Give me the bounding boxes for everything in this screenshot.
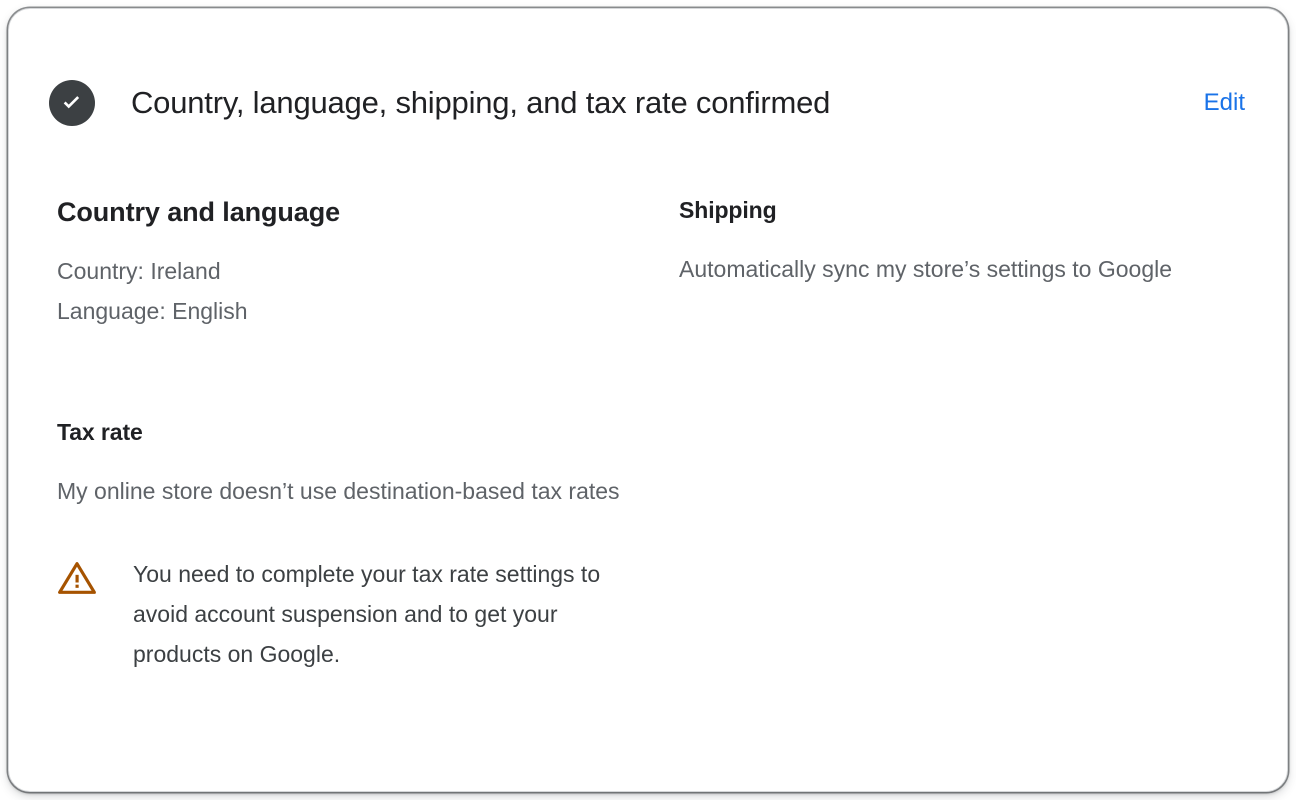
country-language-section: Country and language Country: Ireland La…: [57, 195, 657, 331]
right-column: Shipping Automatically sync my store’s s…: [679, 195, 1239, 290]
tax-rate-heading: Tax rate: [57, 417, 657, 447]
section-spacer: [57, 331, 657, 417]
tax-rate-section: Tax rate My online store doesn’t use des…: [57, 417, 657, 674]
shipping-section: Shipping Automatically sync my store’s s…: [679, 195, 1239, 290]
tax-rate-warning-text: You need to complete your tax rate setti…: [133, 554, 633, 674]
tax-rate-warning: You need to complete your tax rate setti…: [57, 554, 657, 674]
shipping-description: Automatically sync my store’s settings t…: [679, 249, 1239, 290]
language-value: Language: English: [57, 291, 657, 331]
settings-summary-card: Country, language, shipping, and tax rat…: [8, 8, 1288, 792]
edit-link[interactable]: Edit: [1204, 88, 1247, 118]
page-title: Country, language, shipping, and tax rat…: [131, 83, 830, 123]
card-header: Country, language, shipping, and tax rat…: [49, 75, 1247, 131]
card-surface: Country, language, shipping, and tax rat…: [8, 8, 1288, 792]
left-column: Country and language Country: Ireland La…: [57, 195, 657, 674]
check-circle-icon: [49, 80, 95, 126]
shipping-heading: Shipping: [679, 195, 1239, 225]
warning-triangle-icon: [57, 558, 97, 598]
country-language-heading: Country and language: [57, 195, 657, 229]
country-value: Country: Ireland: [57, 251, 657, 291]
tax-rate-description: My online store doesn’t use destination-…: [57, 471, 657, 512]
card-body: Country and language Country: Ireland La…: [9, 195, 1287, 791]
